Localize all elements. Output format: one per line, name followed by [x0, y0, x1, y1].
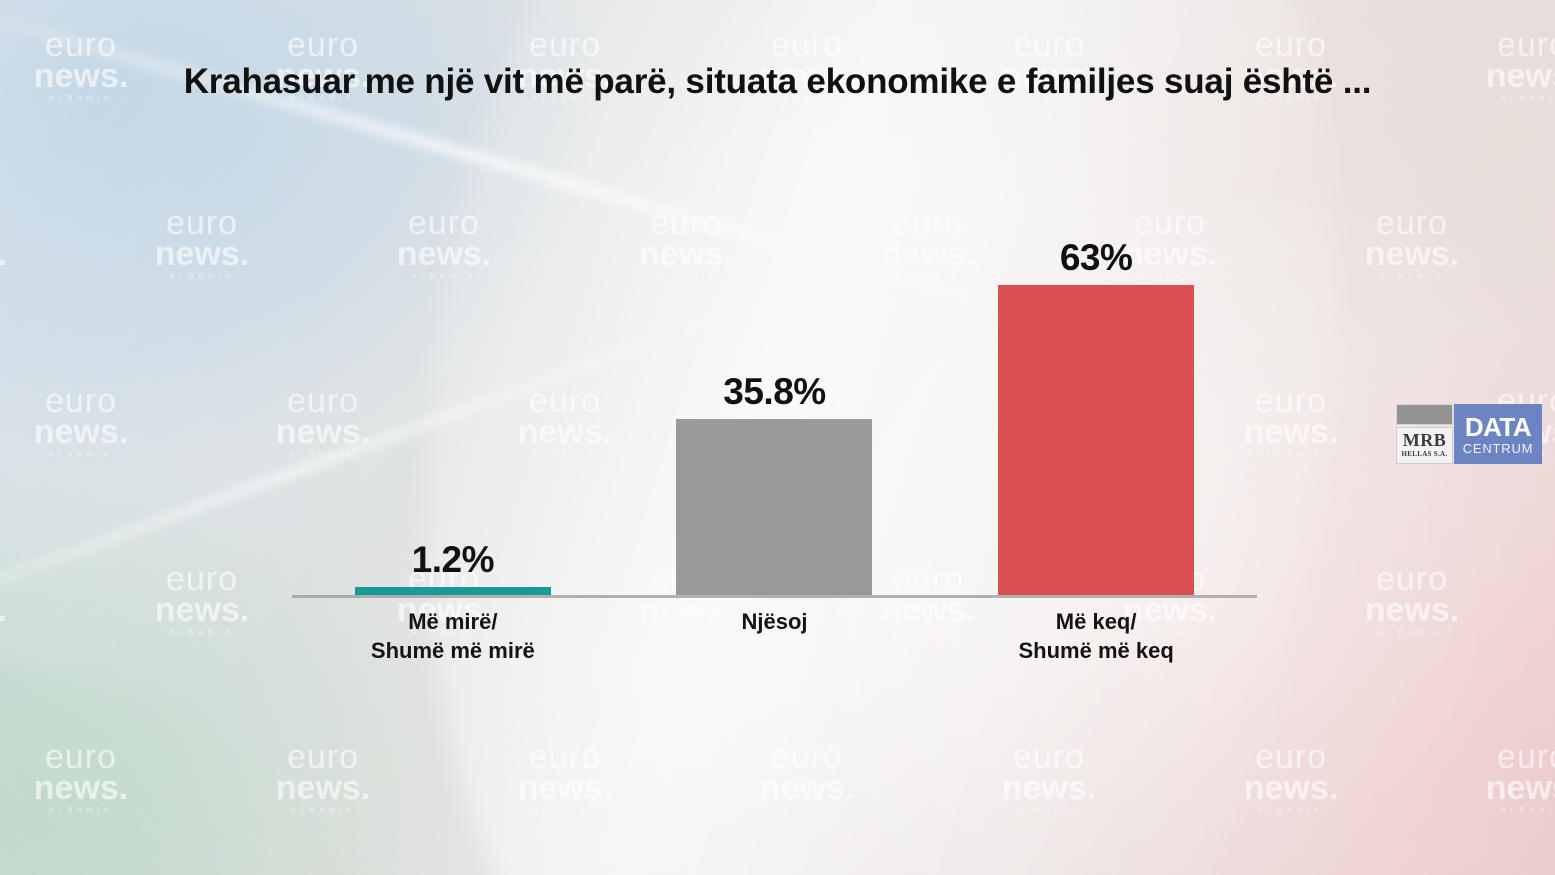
mrb-logo-name: MRB — [1403, 431, 1447, 449]
bar[interactable] — [355, 587, 551, 595]
bar-value-label: 35.8% — [723, 373, 825, 410]
bar-column: 1.2% — [303, 215, 603, 595]
bar-column: 35.8% — [624, 215, 924, 595]
bar-chart-category-labels: Më mirë/ Shumë më mirëNjësojMë keq/ Shum… — [292, 607, 1257, 665]
chart-slide: euronews.ALBANIAeuronews.ALBANIAeuronews… — [0, 0, 1555, 875]
data-centrum-logo-main: DATA — [1465, 414, 1531, 440]
mrb-hellas-logo: MRB HELLAS S.A. — [1396, 404, 1453, 464]
mrb-logo-top-bar — [1396, 404, 1453, 425]
bar-chart: 1.2%35.8%63% — [292, 215, 1257, 600]
bar-column: 63% — [946, 215, 1246, 595]
bar-category-label: Njësoj — [624, 607, 924, 665]
bar-category-label: Më keq/ Shumë më keq — [946, 607, 1246, 665]
bar-chart-plot-area: 1.2%35.8%63% — [292, 215, 1257, 595]
mrb-logo-subtitle: HELLAS S.A. — [1402, 451, 1448, 458]
data-centrum-logo: DATA CENTRUM — [1454, 404, 1542, 464]
bar-value-label: 1.2% — [412, 541, 494, 578]
page-title: Krahasuar me një vit më parë, situata ek… — [90, 60, 1465, 105]
bar[interactable] — [998, 285, 1194, 596]
logo-group: MRB HELLAS S.A. DATA CENTRUM — [1396, 404, 1542, 464]
mrb-logo-box: MRB HELLAS S.A. — [1396, 427, 1453, 464]
data-centrum-logo-sub: CENTRUM — [1463, 442, 1534, 455]
bar-category-label: Më mirë/ Shumë më mirë — [303, 607, 603, 665]
bar[interactable] — [676, 419, 872, 595]
chart-baseline-axis — [292, 595, 1257, 598]
bar-value-label: 63% — [1060, 239, 1133, 276]
